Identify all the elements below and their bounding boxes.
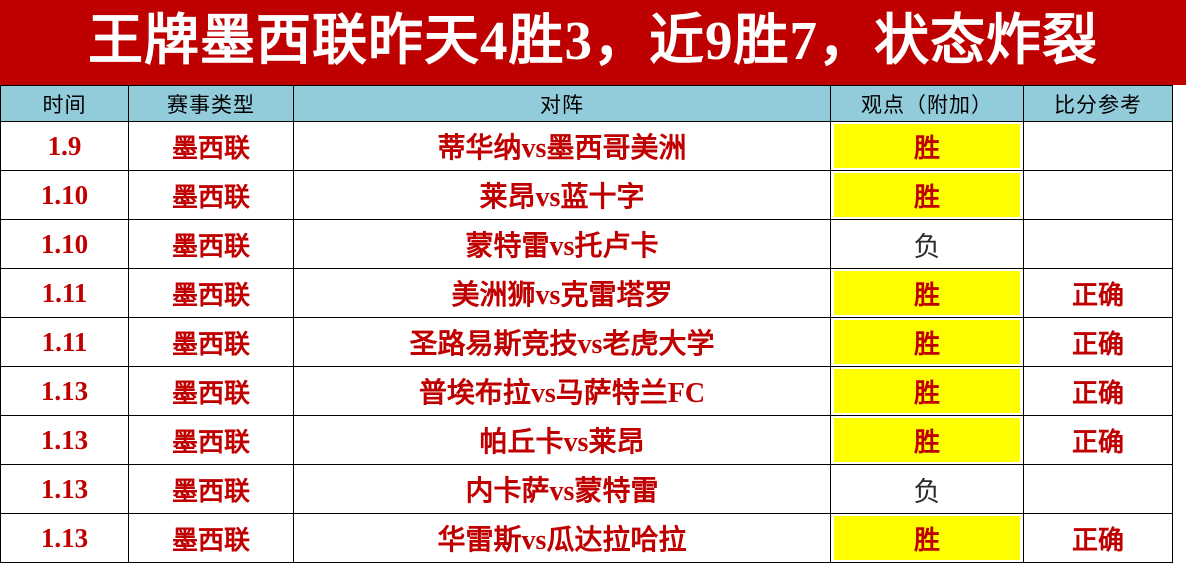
- cell-match: 莱昂vs蓝十字: [294, 171, 831, 220]
- table-row: 1.13墨西联内卡萨vs蒙特雷负: [1, 465, 1173, 514]
- cell-league: 墨西联: [129, 416, 294, 465]
- cell-match: 帕丘卡vs莱昂: [294, 416, 831, 465]
- cell-match: 内卡萨vs蒙特雷: [294, 465, 831, 514]
- view-badge-win: 胜: [834, 320, 1020, 364]
- table-header: 时间 赛事类型 对阵 观点（附加） 比分参考: [1, 86, 1173, 122]
- cell-view: 胜: [831, 416, 1024, 465]
- view-badge-win: 胜: [834, 418, 1020, 462]
- table-header-row: 时间 赛事类型 对阵 观点（附加） 比分参考: [1, 86, 1173, 122]
- table-row: 1.10墨西联莱昂vs蓝十字胜: [1, 171, 1173, 220]
- table-row: 1.9墨西联蒂华纳vs墨西哥美洲胜: [1, 122, 1173, 171]
- cell-view: 负: [831, 220, 1024, 269]
- cell-time: 1.13: [1, 367, 129, 416]
- cell-match: 华雷斯vs瓜达拉哈拉: [294, 514, 831, 563]
- cell-league: 墨西联: [129, 171, 294, 220]
- cell-score: [1024, 122, 1173, 171]
- column-header-match: 对阵: [294, 86, 831, 122]
- view-badge-win: 胜: [834, 173, 1020, 217]
- cell-match: 蒙特雷vs托卢卡: [294, 220, 831, 269]
- cell-league: 墨西联: [129, 367, 294, 416]
- column-header-score: 比分参考: [1024, 86, 1173, 122]
- cell-score: [1024, 465, 1173, 514]
- table-body: 1.9墨西联蒂华纳vs墨西哥美洲胜1.10墨西联莱昂vs蓝十字胜1.10墨西联蒙…: [1, 122, 1173, 563]
- title-banner: 王牌墨西联昨天4胜3，近9胜7，状态炸裂: [0, 0, 1186, 85]
- cell-view: 胜: [831, 269, 1024, 318]
- cell-time: 1.10: [1, 220, 129, 269]
- cell-league: 墨西联: [129, 269, 294, 318]
- cell-match: 蒂华纳vs墨西哥美洲: [294, 122, 831, 171]
- view-badge-lose: 负: [834, 467, 1020, 511]
- table-row: 1.11墨西联圣路易斯竞技vs老虎大学胜正确: [1, 318, 1173, 367]
- cell-time: 1.13: [1, 465, 129, 514]
- cell-view: 胜: [831, 514, 1024, 563]
- column-header-view: 观点（附加）: [831, 86, 1024, 122]
- cell-score: 正确: [1024, 514, 1173, 563]
- prediction-table-container: 时间 赛事类型 对阵 观点（附加） 比分参考 1.9墨西联蒂华纳vs墨西哥美洲胜…: [0, 85, 1172, 563]
- cell-time: 1.13: [1, 416, 129, 465]
- cell-time: 1.10: [1, 171, 129, 220]
- cell-time: 1.11: [1, 318, 129, 367]
- cell-league: 墨西联: [129, 318, 294, 367]
- cell-time: 1.11: [1, 269, 129, 318]
- table-row: 1.10墨西联蒙特雷vs托卢卡负: [1, 220, 1173, 269]
- cell-score: [1024, 171, 1173, 220]
- table-row: 1.13墨西联普埃布拉vs马萨特兰FC胜正确: [1, 367, 1173, 416]
- cell-time: 1.13: [1, 514, 129, 563]
- column-header-league: 赛事类型: [129, 86, 294, 122]
- table-row: 1.11墨西联美洲狮vs克雷塔罗胜正确: [1, 269, 1173, 318]
- cell-score: 正确: [1024, 318, 1173, 367]
- cell-view: 胜: [831, 171, 1024, 220]
- cell-league: 墨西联: [129, 514, 294, 563]
- table-row: 1.13墨西联华雷斯vs瓜达拉哈拉胜正确: [1, 514, 1173, 563]
- cell-score: 正确: [1024, 367, 1173, 416]
- cell-league: 墨西联: [129, 220, 294, 269]
- page-root: 王牌墨西联昨天4胜3，近9胜7，状态炸裂 时间 赛事类型 对阵 观点（附加） 比…: [0, 0, 1186, 562]
- cell-time: 1.9: [1, 122, 129, 171]
- cell-match: 美洲狮vs克雷塔罗: [294, 269, 831, 318]
- column-header-time: 时间: [1, 86, 129, 122]
- view-badge-win: 胜: [834, 516, 1020, 560]
- cell-score: 正确: [1024, 269, 1173, 318]
- cell-match: 普埃布拉vs马萨特兰FC: [294, 367, 831, 416]
- cell-view: 负: [831, 465, 1024, 514]
- view-badge-win: 胜: [834, 271, 1020, 315]
- prediction-table: 时间 赛事类型 对阵 观点（附加） 比分参考 1.9墨西联蒂华纳vs墨西哥美洲胜…: [0, 85, 1173, 563]
- cell-score: [1024, 220, 1173, 269]
- view-badge-lose: 负: [834, 222, 1020, 266]
- page-title: 王牌墨西联昨天4胜3，近9胜7，状态炸裂: [88, 11, 1098, 71]
- cell-score: 正确: [1024, 416, 1173, 465]
- cell-view: 胜: [831, 318, 1024, 367]
- cell-view: 胜: [831, 122, 1024, 171]
- table-row: 1.13墨西联帕丘卡vs莱昂胜正确: [1, 416, 1173, 465]
- cell-league: 墨西联: [129, 465, 294, 514]
- view-badge-win: 胜: [834, 369, 1020, 413]
- cell-view: 胜: [831, 367, 1024, 416]
- cell-league: 墨西联: [129, 122, 294, 171]
- view-badge-win: 胜: [834, 124, 1020, 168]
- cell-match: 圣路易斯竞技vs老虎大学: [294, 318, 831, 367]
